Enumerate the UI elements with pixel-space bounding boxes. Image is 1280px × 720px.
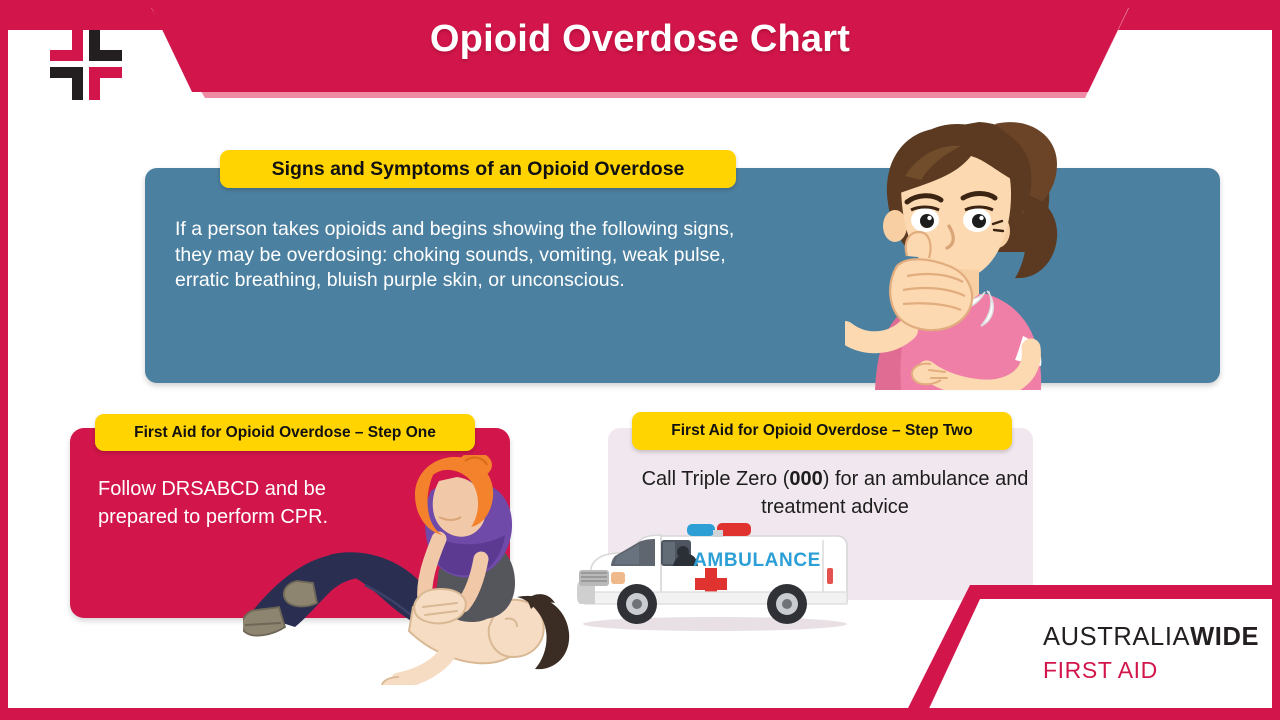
frame-right-edge [1272,0,1280,720]
frame-left-edge [0,0,8,720]
brand-name-australia: AUSTRALIA [1043,623,1190,651]
step-one-label: First Aid for Opioid Overdose – Step One [95,414,475,451]
step-two-body-prefix: Call Triple Zero ( [642,468,790,490]
brand-name-wide: WIDE [1190,623,1259,651]
signs-and-symptoms-body: If a person takes opioids and begins sho… [175,217,745,294]
signs-and-symptoms-label: Signs and Symptoms of an Opioid Overdose [220,150,736,188]
step-two-emergency-number: 000 [789,468,822,490]
frame-top-edge [0,0,1280,8]
ambulance-icon: AMBULANCE [565,508,855,632]
step-two-body: Call Triple Zero (000) for an ambulance … [640,466,1030,521]
step-two-label: First Aid for Opioid Overdose – Step Two [632,412,1012,450]
brand-name-secondary: FIRST AID [1043,657,1158,684]
frame-bottom-edge [0,708,1280,720]
poster-canvas: Opioid Overdose Chart Signs and Symptoms… [0,0,1280,720]
page-title: Opioid Overdose Chart [0,18,1280,61]
brand-name-primary: AUSTRALIAWIDE [1043,623,1259,652]
nauseated-girl-icon [845,98,1085,390]
step-one-body: Follow DRSABCD and be prepared to perfor… [98,475,398,532]
brand-logo-panel [880,585,1280,720]
header-banner: Opioid Overdose Chart [0,0,1280,100]
ambulance-text: AMBULANCE [693,550,821,571]
